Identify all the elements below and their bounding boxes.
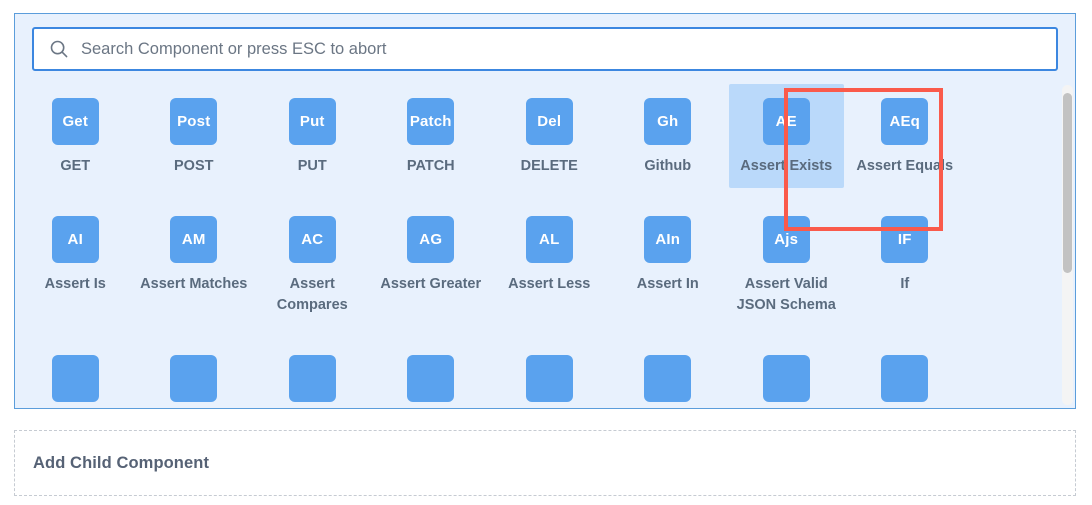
component-icon xyxy=(289,355,336,402)
search-row xyxy=(32,27,1058,71)
component-tile[interactable] xyxy=(137,341,252,409)
grid-scrollbar-track[interactable] xyxy=(1062,85,1073,405)
component-icon: Ajs xyxy=(763,216,810,263)
component-label: Assert Less xyxy=(492,274,607,296)
component-icon: AC xyxy=(289,216,336,263)
add-child-component-dropzone[interactable]: Add Child Component xyxy=(14,430,1076,496)
component-picker-panel: GetGETPostPOSTPutPUTPatchPATCHDelDELETEG… xyxy=(14,13,1076,409)
component-label: Github xyxy=(611,156,726,178)
component-icon: Put xyxy=(289,98,336,145)
component-icon: Post xyxy=(170,98,217,145)
component-tile[interactable]: AMAssert Matches xyxy=(137,202,252,327)
component-icon: AE xyxy=(763,98,810,145)
component-icon: AG xyxy=(407,216,454,263)
add-child-component-label: Add Child Component xyxy=(33,454,209,473)
component-icon xyxy=(526,355,573,402)
component-tile[interactable] xyxy=(374,341,489,409)
search-input[interactable] xyxy=(81,29,1056,69)
component-tile[interactable]: PostPOST xyxy=(137,84,252,188)
component-tile[interactable] xyxy=(492,341,607,409)
component-icon: AIn xyxy=(644,216,691,263)
component-tile[interactable]: AInAssert In xyxy=(611,202,726,327)
component-tile[interactable]: DelDELETE xyxy=(492,84,607,188)
component-icon: Patch xyxy=(407,98,454,145)
component-icon: AI xyxy=(52,216,99,263)
component-icon: AL xyxy=(526,216,573,263)
component-icon xyxy=(52,355,99,402)
component-label: Assert In xyxy=(611,274,726,296)
component-tile[interactable] xyxy=(729,341,844,409)
component-icon: Del xyxy=(526,98,573,145)
component-tile[interactable]: AGAssert Greater xyxy=(374,202,489,327)
component-tile[interactable]: PutPUT xyxy=(255,84,370,188)
component-icon: AEq xyxy=(881,98,928,145)
search-box[interactable] xyxy=(32,27,1058,71)
component-icon: Get xyxy=(52,98,99,145)
component-tile[interactable]: AEAssert Exists xyxy=(729,84,844,188)
component-label: Assert Is xyxy=(18,274,133,296)
component-tile[interactable]: ALAssert Less xyxy=(492,202,607,327)
component-label: Assert Greater xyxy=(374,274,489,296)
component-label: DELETE xyxy=(492,156,607,178)
component-label: PUT xyxy=(255,156,370,178)
component-grid-scroll-area: GetGETPostPOSTPutPUTPatchPATCHDelDELETEG… xyxy=(16,84,1076,408)
component-label: Assert Compares xyxy=(255,274,370,317)
component-icon xyxy=(407,355,454,402)
grid-scrollbar-thumb[interactable] xyxy=(1063,93,1072,273)
component-icon xyxy=(644,355,691,402)
component-tile[interactable]: AjsAssert Valid JSON Schema xyxy=(729,202,844,327)
component-label: GET xyxy=(18,156,133,178)
component-label: If xyxy=(848,274,963,296)
component-label: POST xyxy=(137,156,252,178)
component-label: Assert Valid JSON Schema xyxy=(729,274,844,317)
component-icon xyxy=(881,355,928,402)
component-icon xyxy=(763,355,810,402)
component-icon: Gh xyxy=(644,98,691,145)
component-tile[interactable] xyxy=(18,341,133,409)
component-tile[interactable] xyxy=(255,341,370,409)
component-label: PATCH xyxy=(374,156,489,178)
component-tile[interactable]: AEqAssert Equals xyxy=(848,84,963,188)
component-grid: GetGETPostPOSTPutPUTPatchPATCHDelDELETEG… xyxy=(16,84,1059,408)
component-label: Assert Matches xyxy=(137,274,252,296)
component-tile[interactable] xyxy=(611,341,726,409)
component-icon: AM xyxy=(170,216,217,263)
search-icon xyxy=(49,39,69,59)
component-tile[interactable]: AIAssert Is xyxy=(18,202,133,327)
component-tile[interactable]: GetGET xyxy=(18,84,133,188)
component-label: Assert Equals xyxy=(848,156,963,178)
component-tile[interactable]: IFIf xyxy=(848,202,963,327)
component-tile[interactable]: ACAssert Compares xyxy=(255,202,370,327)
component-tile[interactable] xyxy=(848,341,963,409)
component-icon xyxy=(170,355,217,402)
component-label: Assert Exists xyxy=(729,156,844,178)
component-icon: IF xyxy=(881,216,928,263)
component-tile[interactable]: PatchPATCH xyxy=(374,84,489,188)
component-tile[interactable]: GhGithub xyxy=(611,84,726,188)
